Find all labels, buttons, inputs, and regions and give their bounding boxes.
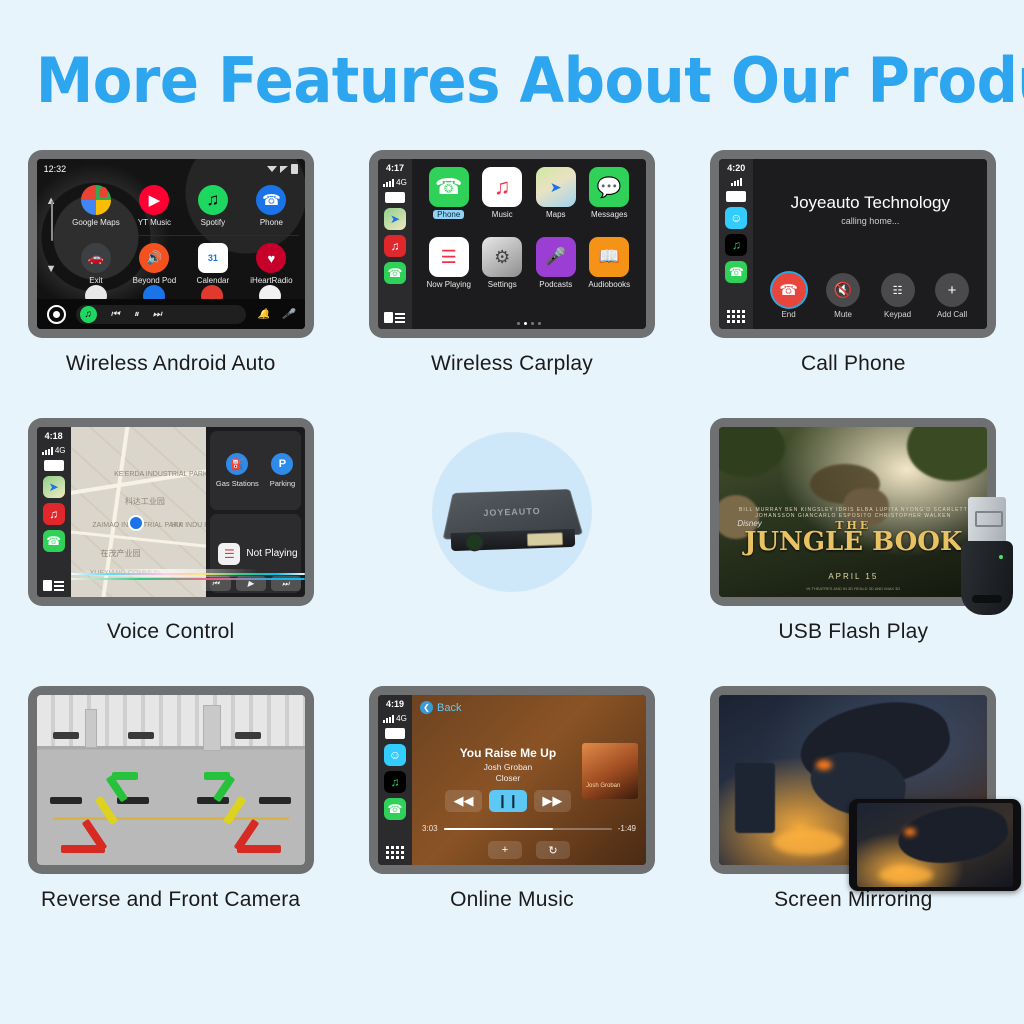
carplay-sidebar: 4:18 4G ➤ ♫ ☎ — [37, 427, 71, 597]
map-road — [71, 463, 207, 497]
calendar-icon: 31 — [198, 243, 228, 273]
battery-icon — [44, 460, 64, 471]
now-playing-main: ❮ Back You Raise Me Up Josh Groban Close… — [412, 695, 646, 865]
iheartradio-icon: ♥ — [256, 243, 286, 273]
signal-icon — [280, 166, 288, 173]
maps-icon[interactable]: ➤ — [43, 476, 65, 498]
feature-tile-product-box: JOYEAUTO — [352, 418, 672, 620]
product-photo: JOYEAUTO — [367, 418, 657, 606]
network-label: 4G — [55, 446, 66, 455]
garage-pillar — [203, 705, 221, 751]
app-label: Messages — [591, 210, 627, 219]
phone-icon[interactable]: ☎ — [725, 261, 747, 283]
maps-icon[interactable]: ➤ — [384, 208, 406, 230]
carplay-call: 4:20 ☺ ♫ ☎ Joyeauto — [719, 159, 987, 329]
tile-caption: Call Phone — [801, 352, 906, 376]
feature-tile-wireless-android-auto: 12:32 ▲ ▼ — [11, 150, 331, 376]
battery-icon — [385, 192, 405, 203]
network-label: 4G — [396, 714, 407, 723]
page-dots[interactable] — [412, 322, 646, 325]
app-messages[interactable]: 💬 Messages — [582, 167, 636, 237]
scrollbar[interactable] — [51, 201, 53, 241]
feature-tile-call-phone: 4:20 ☺ ♫ ☎ Joyeauto — [693, 150, 1013, 376]
app-label: Spotify — [201, 218, 225, 227]
app-label: Now Playing — [427, 280, 471, 289]
back-button[interactable]: ❮ Back — [420, 701, 461, 714]
poi-parking[interactable]: P Parking — [270, 453, 295, 488]
app-label: Audiobooks — [588, 280, 630, 289]
android-auto-screen[interactable]: 12:32 ▲ ▼ — [37, 159, 305, 329]
app-label: Phone — [433, 210, 464, 219]
device-logo: JOYEAUTO — [483, 506, 541, 518]
app-row-3-peek — [67, 285, 299, 295]
podcasts-icon: 🎤 — [536, 237, 576, 277]
feature-row-1: 12:32 ▲ ▼ — [0, 150, 1024, 376]
movie-poster: BILL MURRAY BEN KINGSLEY IDRIS ELBA LUPI… — [719, 427, 987, 597]
keypad-button[interactable]: ☷ Keypad — [881, 273, 915, 319]
wheel-stop — [259, 797, 291, 804]
app-phone[interactable]: ☎ Phone — [242, 185, 301, 227]
carplay-main: KE'ERDA INDUSTRIAL PARK 科达工业园 ZAIMAO IND… — [71, 427, 305, 597]
poster-title: THE JUNGLE BOOK — [719, 521, 987, 555]
spotify-icon[interactable]: ♫ — [80, 306, 97, 323]
map-label: 科达工业园 — [125, 497, 165, 506]
youtube-music-icon: ▶ — [139, 185, 169, 215]
map-label: KE'ERDA INDUSTRIAL PARK — [114, 471, 206, 479]
feature-tile-online-music: 4:19 4G ☺ ♫ ☎ — [352, 686, 672, 912]
end-call-icon: ☎ — [772, 273, 806, 307]
garage-pillar — [85, 709, 97, 748]
phone-screen — [857, 803, 1013, 887]
usb-video-screen[interactable]: BILL MURRAY BEN KINGSLEY IDRIS ELBA LUPI… — [719, 427, 987, 597]
app-row-1: ☎ Phone ♫ Music ➤ — [422, 167, 636, 237]
poi-label: Parking — [270, 479, 295, 488]
reverse-camera-screen[interactable] — [37, 695, 305, 865]
app-google-maps[interactable]: Google Maps — [67, 185, 126, 227]
repeat-icon[interactable]: ↻ — [536, 841, 570, 859]
call-screen[interactable]: 4:20 ☺ ♫ ☎ Joyeauto — [719, 159, 987, 329]
head-unit-bezel: BILL MURRAY BEN KINGSLEY IDRIS ELBA LUPI… — [710, 418, 996, 606]
extra-controls: + ↻ — [412, 841, 646, 859]
battery-icon — [385, 728, 405, 739]
guide-mark-far-right — [204, 772, 230, 780]
wheel-stop — [50, 797, 82, 804]
call-main: Joyeauto Technology calling home... ☎ En… — [753, 159, 987, 329]
app-row-1: Google Maps ▶ YT Music ♫ Spotify — [67, 177, 301, 235]
app-music[interactable]: ♫ Music — [475, 167, 529, 237]
fire-glow — [879, 866, 933, 884]
head-unit-bezel: 4:20 ☺ ♫ ☎ Joyeauto — [710, 150, 996, 338]
call-actions: ☎ End 🔇 Mute ☷ Keypad — [753, 273, 987, 319]
poster-title-line2: JUNGLE BOOK — [744, 527, 962, 557]
google-maps-icon — [81, 185, 111, 215]
pause-icon[interactable]: ❙❙ — [489, 790, 526, 812]
carplay-sidebar: 4:19 4G ☺ ♫ ☎ — [378, 695, 412, 865]
device-connector — [527, 532, 563, 546]
mic-icon[interactable]: 🎤 — [282, 309, 294, 320]
app-grid-icon[interactable] — [727, 310, 745, 323]
app-label: Music — [492, 210, 513, 219]
wifi-icon — [267, 166, 277, 172]
clock: 4:17 — [386, 163, 404, 173]
button-label: Keypad — [884, 310, 911, 319]
app-row-2: ☰ Now Playing ⚙ Settings 🎤 — [422, 237, 636, 307]
add-call-icon: + — [935, 273, 969, 307]
mute-button[interactable]: 🔇 Mute — [826, 273, 860, 319]
guide-mark-far-left — [112, 772, 138, 780]
camera-view — [37, 695, 305, 865]
beyond-pod-icon: 🔊 — [139, 243, 169, 273]
add-icon[interactable]: + — [488, 841, 522, 859]
app-grid-icon[interactable] — [386, 846, 404, 859]
page-title: More Features About Our Product — [36, 44, 988, 117]
app-maps[interactable]: ➤ Maps — [529, 167, 583, 237]
glow-eye — [816, 760, 832, 770]
app-podcasts[interactable]: 🎤 Podcasts — [529, 237, 583, 307]
usb-slot — [972, 595, 1002, 603]
foliage — [907, 427, 987, 481]
phone-icon[interactable]: ☎ — [384, 798, 406, 820]
app-settings[interactable]: ⚙ Settings — [475, 237, 529, 307]
tile-caption: Reverse and Front Camera — [41, 888, 300, 912]
app-label: Google Maps — [72, 218, 120, 227]
add-call-button[interactable]: + Add Call — [935, 273, 969, 319]
app-now-playing[interactable]: ☰ Now Playing — [422, 237, 476, 307]
signal-row: 4G — [383, 714, 407, 723]
track-artist: Josh Groban — [445, 762, 571, 772]
messages-icon: 💬 — [589, 167, 629, 207]
tile-caption: Wireless Carplay — [431, 352, 593, 376]
waze-icon[interactable]: ☺ — [384, 744, 406, 766]
album-artwork: Josh Groban — [582, 743, 638, 799]
app-label: Beyond Pod — [133, 276, 177, 285]
bell-icon[interactable]: 🔔 — [258, 309, 270, 320]
tile-caption: USB Flash Play — [778, 620, 928, 644]
scroll-down-icon[interactable]: ▼ — [46, 263, 57, 275]
music-icon: ♫ — [482, 167, 522, 207]
feature-row-3: Reverse and Front Camera 4:19 4G — [0, 686, 1024, 912]
phone-icon: ☎ — [256, 185, 286, 215]
feature-tile-screen-mirroring: Screen Mirroring — [693, 686, 1013, 912]
smartphone — [849, 799, 1021, 891]
app-yt-music[interactable]: ▶ YT Music — [125, 185, 184, 227]
clock: 4:20 — [727, 163, 745, 173]
netease-music-icon[interactable]: ♫ — [43, 503, 65, 525]
media-bar: ♫ ⏮ ⏸ ⏭ 🔔 🎤 — [37, 299, 305, 329]
caller-name: Joyeauto Technology — [753, 193, 987, 213]
status-actions: 🔔 🎤 — [258, 309, 295, 320]
signal-icon — [383, 179, 394, 187]
now-playing-icon: ☰ — [429, 237, 469, 277]
battery-icon — [726, 191, 746, 202]
poi-label: Gas Stations — [216, 479, 259, 488]
app-label: Exit — [89, 276, 102, 285]
voice-control-screen[interactable]: 4:18 4G ➤ ♫ ☎ — [37, 427, 305, 597]
button-label: Mute — [834, 310, 852, 319]
app-label: YT Music — [138, 218, 171, 227]
album-artwork-label: Josh Groban — [586, 783, 620, 789]
chevron-left-icon: ❮ — [420, 701, 433, 714]
android-auto-launcher: 12:32 ▲ ▼ — [37, 159, 305, 329]
poster-cast: BILL MURRAY BEN KINGSLEY IDRIS ELBA LUPI… — [719, 507, 987, 519]
gas-station-icon: ⛽ — [226, 453, 248, 475]
poi-gas-stations[interactable]: ⛽ Gas Stations — [216, 453, 259, 488]
netease-music-icon[interactable]: ♫ — [384, 235, 406, 257]
current-location-marker — [128, 515, 144, 531]
phone-icon[interactable]: ☎ — [384, 262, 406, 284]
signal-icon — [383, 715, 394, 723]
spotify-icon[interactable]: ♫ — [384, 771, 406, 793]
app-audiobooks[interactable]: 📖 Audiobooks — [582, 237, 636, 307]
parked-car — [235, 732, 261, 739]
progress-fill — [444, 828, 553, 830]
feature-tile-reverse-front-camera: Reverse and Front Camera — [11, 686, 331, 912]
signal-row: 4G — [383, 178, 407, 187]
head-unit-bezel — [28, 686, 314, 874]
phone-icon[interactable]: ☎ — [43, 530, 65, 552]
head-unit-bezel — [710, 686, 996, 874]
city-tower — [735, 763, 775, 833]
head-unit-bezel: 4:19 4G ☺ ♫ ☎ — [369, 686, 655, 874]
rewind-icon[interactable]: ◀◀ — [445, 790, 482, 812]
progress-row: 3:03 -1:49 — [422, 824, 636, 833]
home-icon[interactable] — [47, 305, 66, 324]
end-call-button[interactable]: ☎ End — [772, 273, 806, 319]
app-label: iHeartRadio — [250, 276, 292, 285]
map-label: 在茂产业园 — [101, 549, 141, 558]
next-track-icon[interactable]: ⏭ — [153, 309, 162, 320]
fast-forward-icon[interactable]: ▶▶ — [534, 790, 571, 812]
map-label: HUI INDU PA — [171, 522, 206, 530]
app-calendar[interactable]: 31 Calendar — [184, 243, 243, 285]
audiobooks-icon: 📖 — [589, 237, 629, 277]
head-unit-bezel: 4:18 4G ➤ ♫ ☎ — [28, 418, 314, 606]
guide-mark-near-right — [237, 845, 281, 853]
signal-icon — [42, 447, 53, 455]
now-playing-label: Not Playing — [246, 548, 297, 559]
status-bar: 12:32 — [44, 162, 298, 176]
media-controls: ♫ ⏮ ⏸ ⏭ — [76, 305, 246, 324]
carplay-now-playing: 4:19 4G ☺ ♫ ☎ — [378, 695, 646, 865]
car-exit-icon: 🚗 — [81, 243, 111, 273]
app-grid: ☎ Phone ♫ Music ➤ — [412, 159, 646, 329]
clock: 4:19 — [386, 699, 404, 709]
video-clip: BILL MURRAY BEN KINGSLEY IDRIS ELBA LUPI… — [719, 427, 987, 597]
feature-tile-voice-control: 4:18 4G ➤ ♫ ☎ — [11, 418, 331, 644]
pause-icon[interactable]: ⏸ — [134, 309, 139, 320]
tile-caption: Voice Control — [107, 620, 235, 644]
app-beyond-pod[interactable]: 🔊 Beyond Pod — [125, 243, 184, 285]
fire-glow — [773, 829, 843, 855]
feature-tile-usb-flash-play: BILL MURRAY BEN KINGSLEY IDRIS ELBA LUPI… — [693, 418, 1013, 644]
parked-car — [53, 732, 79, 739]
spotify-icon[interactable]: ♫ — [725, 234, 747, 256]
calendar-day: 31 — [208, 253, 218, 263]
poi-card: ⛽ Gas Stations P Parking — [210, 431, 300, 510]
dragon-body — [894, 803, 1012, 871]
poster-release-date: APRIL 15 — [719, 572, 987, 581]
app-iheartradio[interactable]: ♥ iHeartRadio — [242, 243, 301, 285]
app-label: Settings — [488, 280, 517, 289]
poster-fine-print: IN THEATRES AND IN 3D REALD 3D AND IMAX … — [719, 586, 987, 591]
remaining-time: -1:49 — [618, 824, 636, 833]
product-device: JOYEAUTO — [447, 477, 577, 547]
call-status: calling home... — [753, 216, 987, 226]
tile-caption: Screen Mirroring — [774, 888, 932, 912]
app-grid: Google Maps ▶ YT Music ♫ Spotify — [67, 177, 301, 295]
product-backdrop: JOYEAUTO — [432, 432, 592, 592]
tile-caption: Wireless Android Auto — [66, 352, 276, 376]
app-phone[interactable]: ☎ Phone — [422, 167, 476, 237]
clock: 12:32 — [44, 164, 67, 174]
app-spotify[interactable]: ♫ Spotify — [184, 185, 243, 227]
progress-bar[interactable] — [444, 828, 612, 830]
grid-divider — [67, 235, 299, 236]
carplay-sidebar: 4:20 ☺ ♫ ☎ — [719, 159, 753, 329]
signal-row: 4G — [42, 446, 66, 455]
guide-mark-near-left — [61, 845, 105, 853]
parked-car — [128, 732, 154, 739]
carplay-maps-siri: 4:18 4G ➤ ♫ ☎ — [37, 427, 305, 597]
app-list-icon[interactable] — [384, 312, 405, 323]
carplay-screen[interactable]: 4:17 4G ➤ ♫ ☎ — [378, 159, 646, 329]
siri-waveform — [71, 561, 305, 591]
usb-connector — [968, 497, 1006, 545]
track-title: You Raise Me Up — [445, 746, 571, 760]
phone-icon: ☎ — [429, 167, 469, 207]
app-list-icon[interactable] — [43, 580, 64, 591]
carplay-main: ☎ Phone ♫ Music ➤ — [412, 159, 646, 329]
app-label: Calendar — [197, 276, 229, 285]
usb-flash-drive — [961, 497, 1013, 615]
back-label: Back — [437, 702, 461, 714]
network-label: 4G — [396, 178, 407, 187]
app-label: Podcasts — [539, 280, 572, 289]
usb-body — [961, 541, 1013, 615]
screen-mirroring-screen[interactable] — [719, 695, 987, 865]
head-unit-bezel: 4:17 4G ➤ ♫ ☎ — [369, 150, 655, 338]
waze-icon[interactable]: ☺ — [725, 207, 747, 229]
button-label: End — [781, 310, 795, 319]
signal-icon — [731, 178, 742, 186]
status-icons — [267, 164, 298, 174]
parking-icon: P — [271, 453, 293, 475]
app-label: Maps — [546, 210, 566, 219]
button-label: Add Call — [937, 310, 967, 319]
product-feature-page: More Features About Our Product 12:32 — [0, 0, 1024, 1024]
online-music-screen[interactable]: 4:19 4G ☺ ♫ ☎ — [378, 695, 646, 865]
foliage — [719, 427, 785, 477]
track-info: You Raise Me Up Josh Groban Closer — [445, 746, 571, 783]
app-label: Phone — [260, 218, 283, 227]
playback-controls: ◀◀ ❙❙ ▶▶ — [445, 790, 571, 812]
mute-icon: 🔇 — [826, 273, 860, 307]
track-album: Closer — [445, 773, 571, 783]
battery-icon — [291, 164, 298, 174]
elapsed-time: 3:03 — [422, 824, 438, 833]
maps-icon: ➤ — [536, 167, 576, 207]
previous-track-icon[interactable]: ⏮ — [111, 309, 120, 320]
carplay-home: 4:17 4G ➤ ♫ ☎ — [378, 159, 646, 329]
clock: 4:18 — [45, 431, 63, 441]
settings-icon: ⚙ — [482, 237, 522, 277]
keypad-icon: ☷ — [881, 273, 915, 307]
tile-caption: Online Music — [450, 888, 574, 912]
feature-tile-wireless-carplay: 4:17 4G ➤ ♫ ☎ — [352, 150, 672, 376]
feature-row-2: 4:18 4G ➤ ♫ ☎ — [0, 418, 1024, 644]
carplay-sidebar: 4:17 4G ➤ ♫ ☎ — [378, 159, 412, 329]
spotify-icon: ♫ — [198, 185, 228, 215]
head-unit-bezel: 12:32 ▲ ▼ — [28, 150, 314, 338]
feature-grid: 12:32 ▲ ▼ — [0, 150, 1024, 912]
app-exit[interactable]: 🚗 Exit — [67, 243, 126, 285]
